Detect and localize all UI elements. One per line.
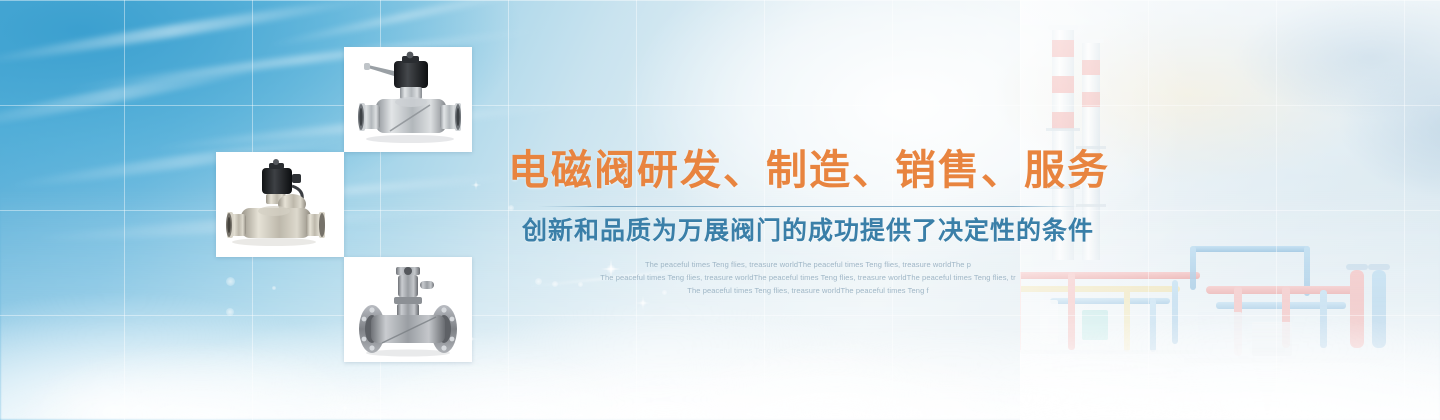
page-title: 电磁阀研发、制造、销售、服务 xyxy=(508,148,1108,194)
product-tile-threaded-solenoid-valve-left[interactable] xyxy=(216,152,344,257)
hero-banner: 电磁阀研发、制造、销售、服务 创新和品质为万展阀门的成功提供了决定性的条件 Th… xyxy=(0,0,1440,420)
hero-copy: 电磁阀研发、制造、销售、服务 创新和品质为万展阀门的成功提供了决定性的条件 Th… xyxy=(508,148,1108,297)
product-tile-flanged-solenoid-valve-bottom[interactable] xyxy=(344,257,472,362)
product-tile-threaded-solenoid-valve-top[interactable] xyxy=(344,47,472,152)
page-subtitle: 创新和品质为万展阀门的成功提供了决定性的条件 xyxy=(508,216,1108,246)
blurb-text: The peaceful times Teng flies, treasure … xyxy=(593,258,1023,297)
flanged-solenoid-valve-bottom-icon xyxy=(344,257,472,362)
threaded-solenoid-valve-top-icon xyxy=(344,47,472,152)
blurb-line-1: The peaceful times Teng flies, treasure … xyxy=(593,258,1023,271)
threaded-solenoid-valve-left-icon xyxy=(216,152,344,257)
title-divider xyxy=(538,206,1078,207)
blurb-line-2: The peaceful times Teng flies, treasure … xyxy=(593,271,1023,284)
blurb-line-3: The peaceful times Teng flies, treasure … xyxy=(593,284,1023,297)
